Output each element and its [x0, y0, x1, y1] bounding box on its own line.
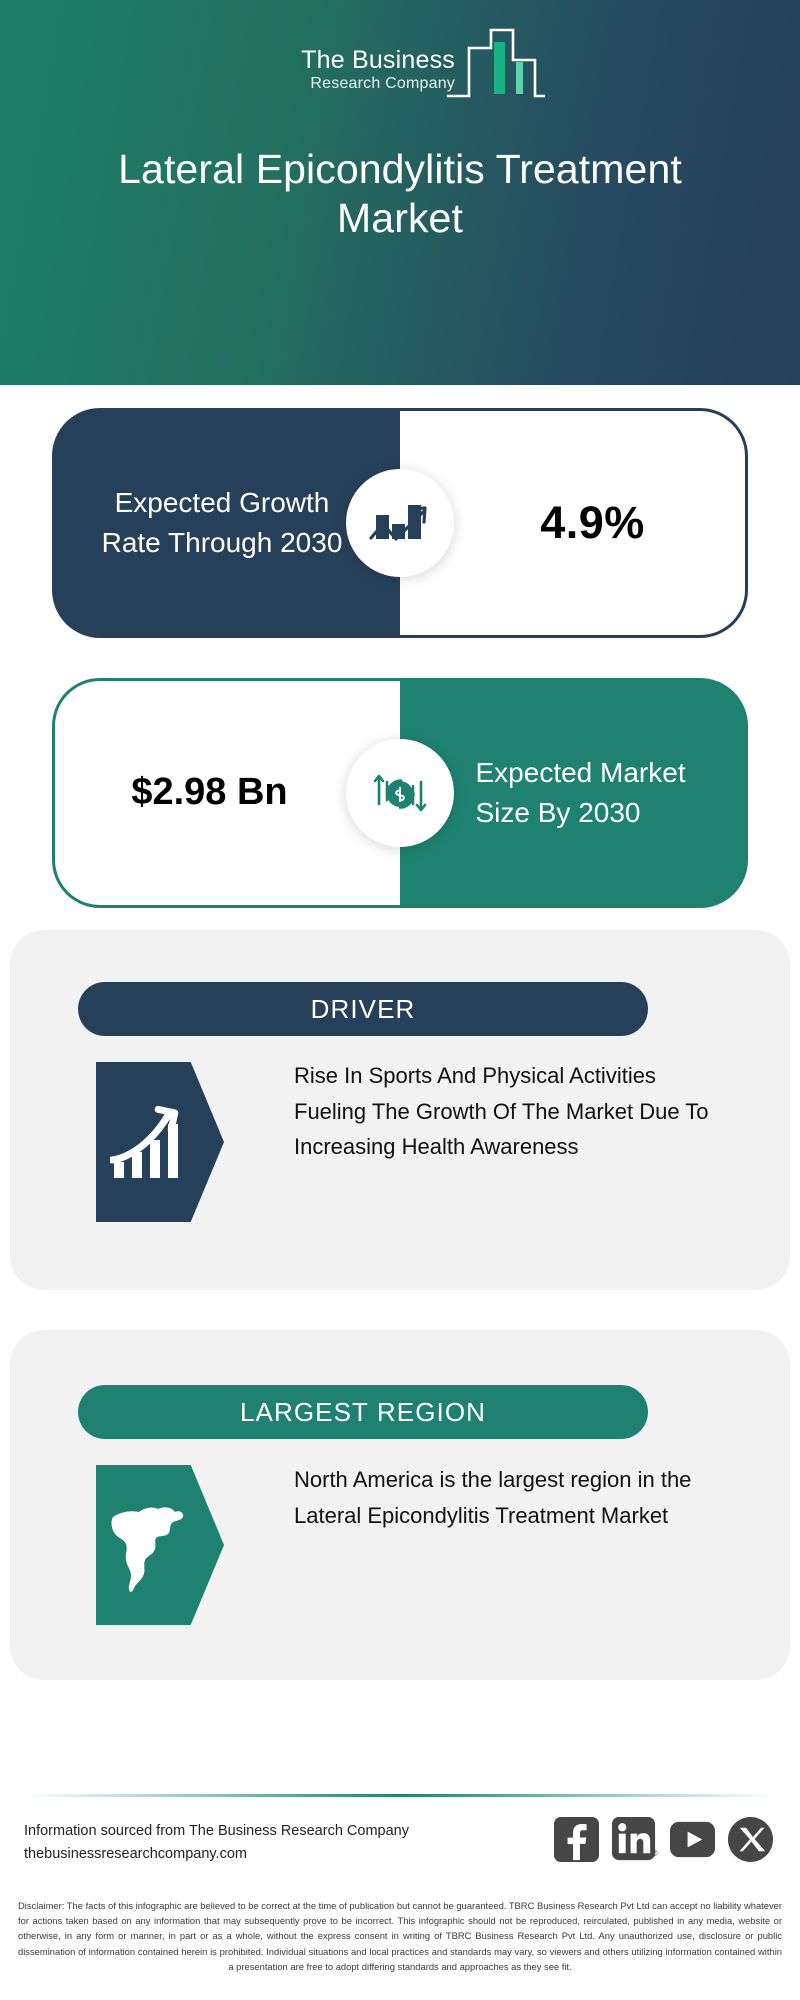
growth-bar-arrow-icon	[110, 1102, 192, 1182]
dollar-cycle-icon-bubble	[346, 739, 454, 847]
stat-card-growth-rate: Expected Growth Rate Through 2030 4.9%	[52, 408, 748, 638]
growth-chart-icon	[368, 493, 432, 553]
source-line-2[interactable]: thebusinessresearchcompany.com	[24, 1843, 494, 1866]
footer-divider	[24, 1794, 776, 1797]
social-links: ®	[553, 1816, 774, 1863]
growth-chart-icon-bubble	[346, 469, 454, 577]
largest-region-pill-label: LARGEST REGION	[240, 1397, 486, 1428]
source-line-1: Information sourced from The Business Re…	[24, 1820, 494, 1843]
stat-card-market-size: $2.98 Bn Expected Market Size By 2030	[52, 678, 748, 908]
company-logo: The Business Research Company	[0, 26, 800, 108]
largest-region-description: North America is the largest region in t…	[294, 1462, 714, 1533]
driver-pill: DRIVER	[78, 982, 648, 1036]
x-twitter-icon[interactable]	[727, 1816, 774, 1863]
bar-chart-logo-icon	[447, 26, 545, 104]
dollar-cycle-icon	[367, 760, 433, 826]
north-america-map-icon	[108, 1493, 194, 1597]
facebook-icon[interactable]	[553, 1816, 600, 1863]
source-attribution: Information sourced from The Business Re…	[24, 1820, 494, 1867]
logo-secondary-text: Research Company	[255, 76, 455, 92]
header-banner: The Business Research Company Lateral Ep…	[0, 0, 800, 385]
largest-region-pill: LARGEST REGION	[78, 1385, 648, 1439]
market-size-label: Expected Market Size By 2030	[476, 753, 711, 833]
driver-description: Rise In Sports And Physical Activities F…	[294, 1058, 714, 1165]
linkedin-icon[interactable]: ®	[611, 1816, 658, 1863]
driver-pill-label: DRIVER	[311, 994, 416, 1025]
logo-primary-text: The Business	[255, 48, 455, 73]
page-title: Lateral Epicondylitis Treatment Market	[60, 145, 740, 243]
svg-text:®: ®	[651, 1848, 658, 1858]
growth-rate-value: 4.9%	[540, 497, 645, 549]
growth-rate-label: Expected Growth Rate Through 2030	[97, 483, 347, 563]
market-size-value: $2.98 Bn	[115, 769, 305, 817]
disclaimer-text: Disclaimer: The facts of this infographi…	[18, 1898, 782, 1974]
youtube-icon[interactable]	[669, 1816, 716, 1863]
